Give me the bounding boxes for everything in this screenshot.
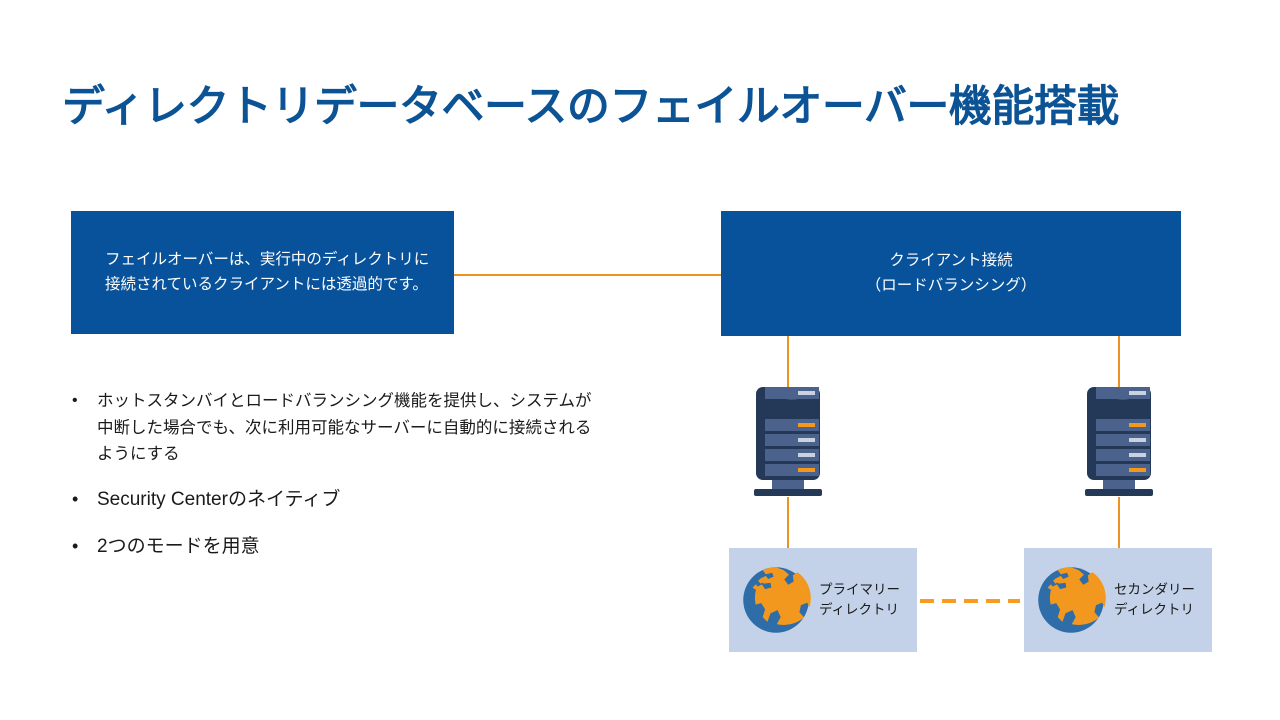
bullet-text: 2つのモードを用意 xyxy=(97,536,260,557)
server-drive-bay xyxy=(765,464,819,476)
server-drive-bay xyxy=(1096,419,1150,431)
connector-server-1-to-directory-1 xyxy=(787,497,789,549)
list-item: • ホットスタンバイとロードバランシング機能を提供し、システムが中断した場合でも… xyxy=(66,388,602,468)
server-led-grey xyxy=(798,438,815,442)
server-stand-neck xyxy=(772,480,804,489)
server-led-orange xyxy=(798,468,815,472)
server-tower-icon-secondary xyxy=(1083,387,1155,499)
server-led-grey xyxy=(798,391,815,395)
secondary-directory-label-line1: セカンダリー xyxy=(1114,580,1195,600)
bullet-marker: • xyxy=(72,388,78,414)
globe-icon xyxy=(1032,561,1110,639)
server-drive-bay xyxy=(765,419,819,431)
connector-client-to-server-1 xyxy=(787,336,789,389)
server-drive-bay xyxy=(1096,434,1150,446)
server-led-grey xyxy=(798,453,815,457)
bullet-list: • ホットスタンバイとロードバランシング機能を提供し、システムが中断した場合でも… xyxy=(66,388,586,580)
server-stand-base xyxy=(1085,489,1153,496)
server-led-orange xyxy=(798,423,815,427)
globe-icon xyxy=(737,561,815,639)
bullet-text: ホットスタンバイとロードバランシング機能を提供し、システムが中断した場合でも、次… xyxy=(97,392,592,463)
connector-directory-1-to-directory-2-dashed xyxy=(920,599,1020,603)
server-body xyxy=(756,387,820,480)
list-item: • 2つのモードを用意 xyxy=(66,532,586,563)
server-led-grey xyxy=(1129,438,1146,442)
server-drive-bay xyxy=(1096,464,1150,476)
server-stand-neck xyxy=(1103,480,1135,489)
bullet-text: Security Centerのネイティブ xyxy=(97,489,340,510)
client-connections-line1: クライアント接続 xyxy=(866,249,1037,274)
list-item: • Security Centerのネイティブ xyxy=(66,485,586,516)
connector-server-2-to-directory-2 xyxy=(1118,497,1120,549)
bullet-marker: • xyxy=(72,485,78,514)
connector-client-to-server-2 xyxy=(1118,336,1120,389)
server-stand-base xyxy=(754,489,822,496)
server-drive-bay xyxy=(1096,449,1150,461)
server-tower-icon-primary xyxy=(752,387,824,499)
client-connections-box: クライアント接続 （ロードバランシング） xyxy=(721,211,1181,336)
server-led-orange xyxy=(1129,423,1146,427)
secondary-directory-box: セカンダリー ディレクトリ xyxy=(1024,548,1212,652)
server-drive-bay xyxy=(1096,387,1150,399)
primary-directory-label-line2: ディレクトリ xyxy=(819,600,900,620)
slide-canvas: ディレクトリデータベースのフェイルオーバー機能搭載 フェイルオーバーは、実行中の… xyxy=(0,0,1280,720)
primary-directory-box: プライマリー ディレクトリ xyxy=(729,548,917,652)
server-led-orange xyxy=(1129,468,1146,472)
server-led-grey xyxy=(1129,391,1146,395)
secondary-directory-label-line2: ディレクトリ xyxy=(1114,600,1195,620)
primary-directory-label-line1: プライマリー xyxy=(819,580,900,600)
client-connections-line2: （ロードバランシング） xyxy=(866,274,1037,299)
secondary-directory-label: セカンダリー ディレクトリ xyxy=(1114,580,1195,621)
server-drive-bay xyxy=(765,449,819,461)
page-title: ディレクトリデータベースのフェイルオーバー機能搭載 xyxy=(62,84,1162,131)
server-drive-bay xyxy=(765,434,819,446)
server-body xyxy=(1087,387,1151,480)
bullet-marker: • xyxy=(72,532,78,561)
client-connections-text: クライアント接続 （ロードバランシング） xyxy=(866,249,1037,299)
server-drive-bay xyxy=(765,387,819,399)
failover-callout-box: フェイルオーバーは、実行中のディレクトリに接続されているクライアントには透過的で… xyxy=(71,211,454,334)
primary-directory-label: プライマリー ディレクトリ xyxy=(819,580,900,621)
connector-callout-to-client xyxy=(454,274,721,276)
server-led-grey xyxy=(1129,453,1146,457)
failover-callout-text: フェイルオーバーは、実行中のディレクトリに接続されているクライアントには透過的で… xyxy=(105,248,436,296)
